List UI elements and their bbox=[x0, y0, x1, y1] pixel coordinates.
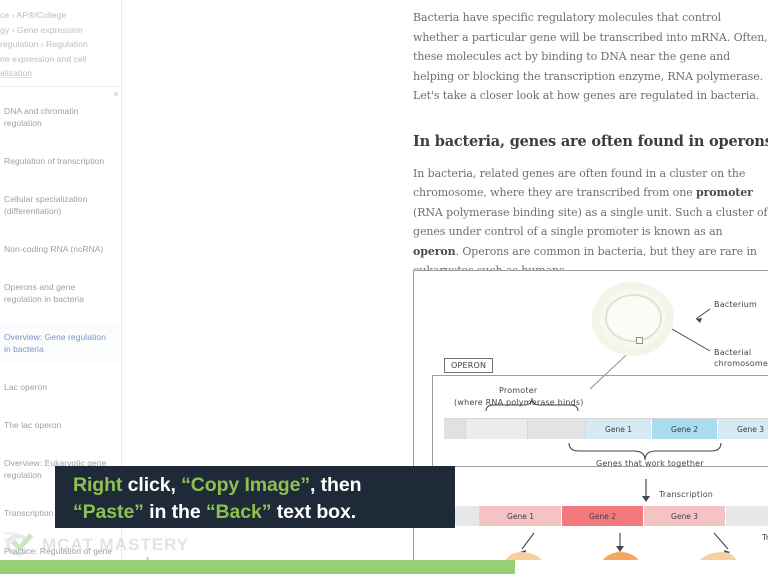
nav-spacer bbox=[0, 262, 122, 274]
operon-location-marker bbox=[636, 337, 643, 344]
sidebar-item-lac-operon[interactable]: Lac operon bbox=[0, 374, 122, 400]
sidebar-item-cellular-specialization[interactable]: Cellular specialization (differentiation… bbox=[0, 186, 122, 224]
operon-para-part2: (RNA polymerase binding site) as a singl… bbox=[413, 206, 768, 239]
sidebar-item-dna-chromatin-regulation[interactable]: DNA and chromatin regulation bbox=[0, 98, 122, 136]
sidebar-item-overview-gene-regulation-bacteria[interactable]: Overview: Gene regulation in bacteria bbox=[0, 324, 122, 362]
mrna-segment bbox=[726, 506, 768, 526]
dna-gene-1: Gene 1 bbox=[586, 419, 652, 439]
dna-gene-2: Gene 2 bbox=[652, 419, 718, 439]
mrna-gene-3: Gene 3 bbox=[644, 506, 726, 526]
nav-spacer bbox=[0, 136, 122, 148]
mrna-strand: Gene 1 Gene 2 Gene 3 bbox=[444, 506, 768, 526]
mcat-mastery-check-icon: lesson nation bbox=[4, 531, 40, 559]
watermark-logo: lesson nation MCAT MASTERY bbox=[4, 531, 189, 559]
label-promoter: Promoter bbox=[499, 386, 537, 395]
caption-hl-paste: “Paste” bbox=[73, 501, 144, 523]
sidebar-item-regulation-of-transcription[interactable]: Regulation of transcription bbox=[0, 148, 122, 174]
sidebar-divider bbox=[0, 86, 122, 87]
dna-segment bbox=[528, 419, 586, 439]
caption-text-then: , then bbox=[310, 474, 361, 496]
mrna-gene-1: Gene 1 bbox=[480, 506, 562, 526]
label-promoter-detail: (where RNA polymerase binds) bbox=[454, 398, 584, 407]
screenshot-root: ce › AP®/College gy › Gene expression re… bbox=[0, 0, 768, 574]
caption-text-click: click, bbox=[122, 474, 181, 496]
sidebar-item-the-lac-operon[interactable]: The lac operon bbox=[0, 412, 122, 438]
breadcrumb-line-1[interactable]: ce › AP®/College bbox=[0, 8, 115, 23]
nav-spacer bbox=[0, 174, 122, 186]
dna-gene-3: Gene 3 bbox=[718, 419, 768, 439]
protein-product-2 bbox=[600, 552, 642, 560]
watermark-subtext: lesson nation bbox=[4, 531, 18, 543]
label-genes-that-work-together: Genes that work together bbox=[596, 459, 704, 468]
label-bacterium: Bacterium bbox=[714, 300, 757, 309]
article-column: Bacteria have specific regulatory molecu… bbox=[405, 0, 768, 560]
breadcrumb-line-4[interactable]: ne expression and cell bbox=[0, 52, 115, 67]
caption-hl-copy-image: “Copy Image” bbox=[181, 474, 310, 496]
label-operon-box: OPERON bbox=[444, 358, 493, 373]
sidebar-item-operons-gene-regulation[interactable]: Operons and gene regulation in bacteria bbox=[0, 274, 122, 312]
caption-hl-back: “Back” bbox=[206, 501, 272, 523]
caption-line-1: Right click, “Copy Image”, then bbox=[73, 472, 441, 499]
watermark-text: MCAT MASTERY bbox=[42, 535, 189, 555]
label-translation: Translation bbox=[762, 533, 768, 542]
watermark-subtext-line2: nation bbox=[4, 537, 18, 543]
video-progress-track[interactable] bbox=[0, 560, 768, 574]
label-transcription: Transcription bbox=[659, 490, 713, 499]
nav-spacer bbox=[0, 438, 122, 450]
operon-diagram-figure: Bacterium Bacterial chromosome OPERON Pr… bbox=[413, 270, 768, 560]
section-heading: In bacteria, genes are often found in op… bbox=[405, 106, 768, 164]
protein-product-3 bbox=[698, 552, 740, 560]
caption-text-textbox: text box. bbox=[271, 501, 356, 523]
nav-spacer bbox=[0, 312, 122, 324]
video-playhead-line bbox=[413, 548, 414, 560]
nav-spacer bbox=[0, 362, 122, 374]
breadcrumb-line-3[interactable]: regulation › Regulation bbox=[0, 37, 115, 52]
breadcrumb[interactable]: ce › AP®/College gy › Gene expression re… bbox=[0, 0, 121, 91]
intro-paragraph: Bacteria have specific regulatory molecu… bbox=[405, 0, 768, 106]
bacterial-chromosome-ring bbox=[605, 294, 662, 342]
label-bacterial-chromosome: Bacterial chromosome bbox=[714, 347, 768, 369]
instruction-caption-overlay: Right click, “Copy Image”, then “Paste” … bbox=[55, 466, 455, 528]
dna-segment bbox=[444, 419, 466, 439]
video-progress-fill[interactable] bbox=[0, 560, 515, 574]
caption-line-2: “Paste” in the “Back” text box. bbox=[73, 499, 441, 526]
dna-strand: Gene 1 Gene 2 Gene 3 bbox=[444, 418, 768, 438]
term-promoter: promoter bbox=[696, 186, 753, 199]
operon-paragraph: In bacteria, related genes are often fou… bbox=[405, 164, 768, 281]
caption-text-in-the: in the bbox=[144, 501, 206, 523]
breadcrumb-line-2[interactable]: gy › Gene expression bbox=[0, 23, 115, 38]
nav-spacer bbox=[0, 400, 122, 412]
dna-segment bbox=[466, 419, 528, 439]
sidebar-item-non-coding-rna[interactable]: Non-coding RNA (ncRNA) bbox=[0, 236, 122, 262]
breadcrumb-line-5[interactable]: alization bbox=[0, 66, 115, 81]
mrna-gene-2: Gene 2 bbox=[562, 506, 644, 526]
nav-spacer bbox=[0, 224, 122, 236]
protein-product-1 bbox=[502, 552, 544, 560]
term-operon: operon bbox=[413, 245, 456, 258]
caption-hl-right: Right bbox=[73, 474, 122, 496]
